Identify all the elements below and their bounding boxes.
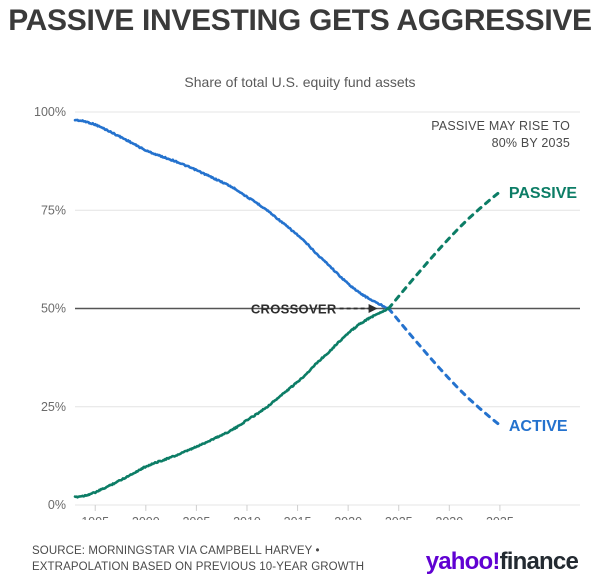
x-axis-tick-label: 1995 xyxy=(81,515,109,520)
y-axis-tick-label: 25% xyxy=(41,400,66,414)
logo-brand-text: yahoo! xyxy=(426,548,500,575)
x-axis-tick-label: 2010 xyxy=(233,515,261,520)
x-axis-ticks xyxy=(95,505,500,511)
logo-product-text: finance xyxy=(500,548,578,575)
crossover-label: CROSSOVER xyxy=(251,302,337,317)
series-label-passive: PASSIVE xyxy=(509,185,578,202)
source-note: SOURCE: MORNINGSTAR VIA CAMPBELL HARVEY … xyxy=(32,543,402,575)
x-axis-tick-label: 2005 xyxy=(182,515,210,520)
series-line-passive-historical xyxy=(75,308,389,497)
x-axis-labels: 199520002005201020152020202520302035 xyxy=(81,515,514,520)
y-axis-tick-label: 0% xyxy=(48,498,66,512)
series-line-passive-forecast xyxy=(389,192,500,309)
x-axis-tick-label: 2020 xyxy=(334,515,362,520)
x-axis-tick-label: 2025 xyxy=(385,515,413,520)
series-labels: ACTIVEPASSIVE xyxy=(509,185,578,435)
infographic-root: PASSIVE INVESTING GETS AGGRESSIVE Share … xyxy=(0,0,600,583)
x-axis-tick-label: 2035 xyxy=(486,515,514,520)
x-axis-tick-label: 2030 xyxy=(435,515,463,520)
y-axis-tick-label: 75% xyxy=(41,203,66,217)
y-axis-labels: 0%25%50%75%100% xyxy=(34,105,66,512)
line-chart: 0%25%50%75%100% 199520002005201020152020… xyxy=(0,95,600,520)
y-axis-tick-label: 100% xyxy=(34,105,66,119)
series-line-active-forecast xyxy=(389,309,500,426)
yahoo-finance-logo: yahoo!finance xyxy=(426,548,578,576)
page-title: PASSIVE INVESTING GETS AGGRESSIVE xyxy=(0,4,600,38)
y-axis-tick-label: 50% xyxy=(41,302,66,316)
source-note-line2: EXTRAPOLATION BASED ON PREVIOUS 10-YEAR … xyxy=(32,559,402,575)
source-note-line1: SOURCE: MORNINGSTAR VIA CAMPBELL HARVEY … xyxy=(32,543,402,559)
page-subtitle: Share of total U.S. equity fund assets xyxy=(0,74,600,90)
x-axis-tick-label: 2015 xyxy=(284,515,312,520)
x-axis-tick-label: 2000 xyxy=(132,515,160,520)
series-line-active-historical xyxy=(75,120,389,309)
series-label-active: ACTIVE xyxy=(509,418,568,435)
crossover-arrow-head-icon xyxy=(369,304,378,313)
